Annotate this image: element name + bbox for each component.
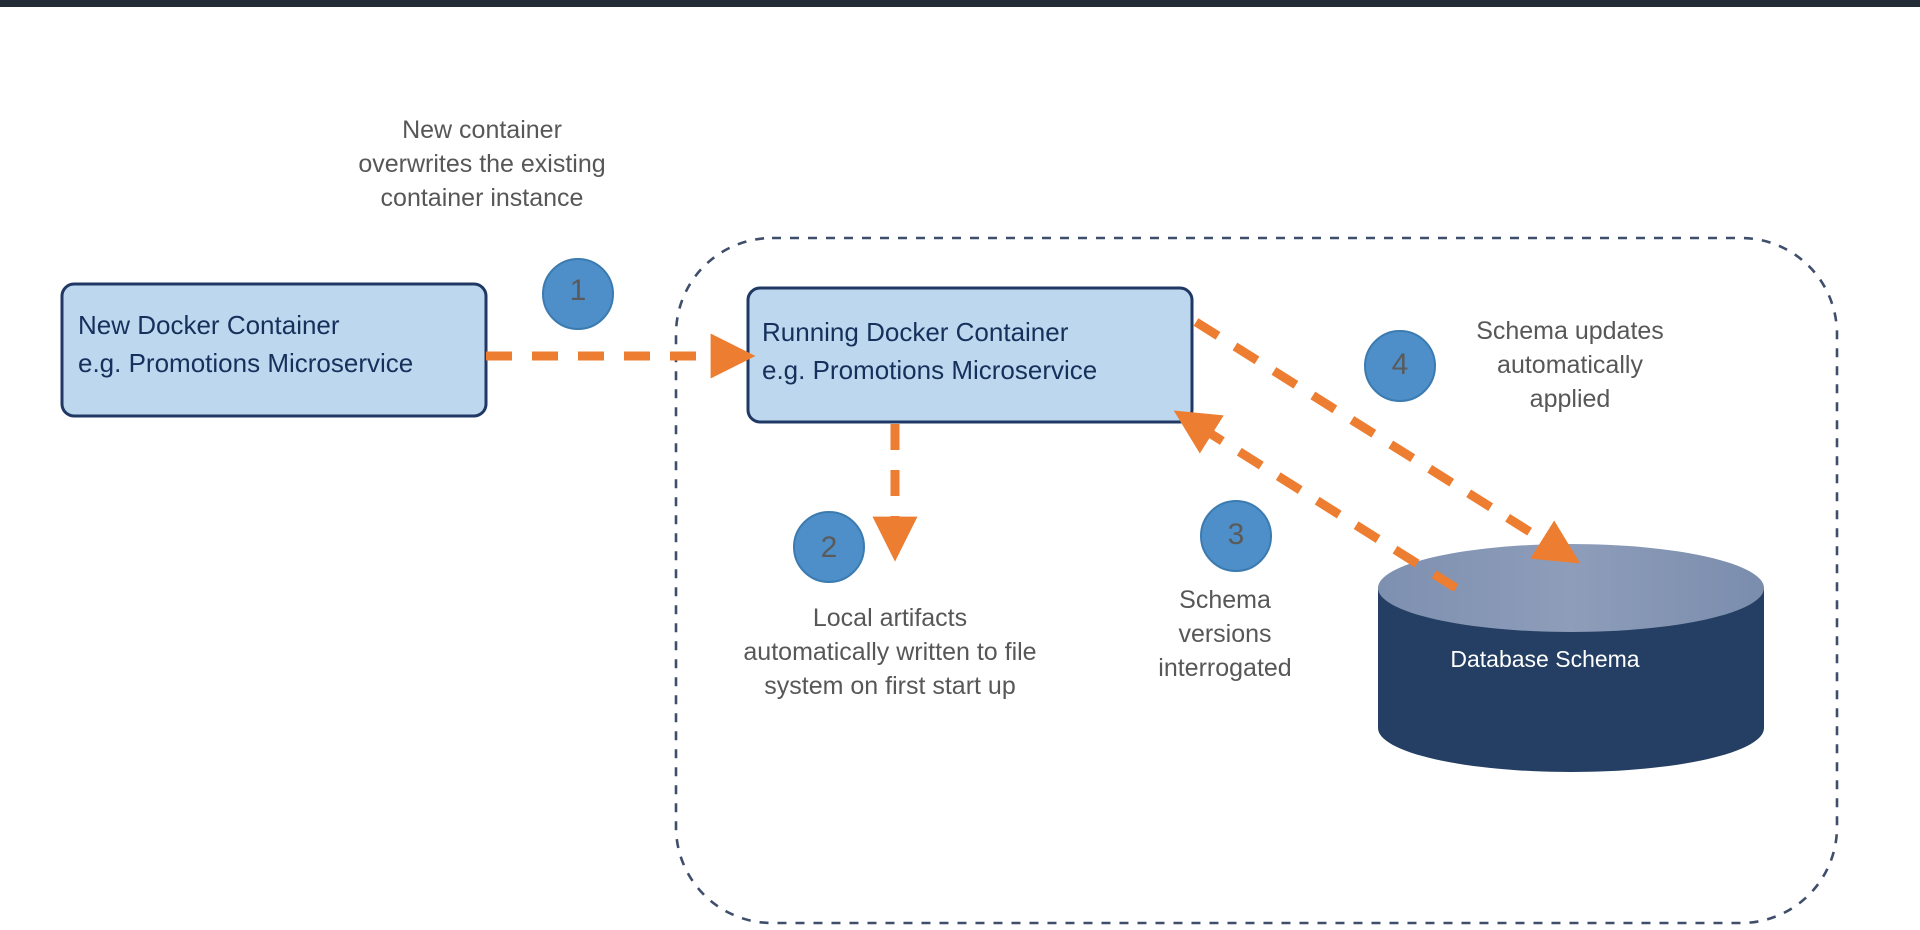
note-new-container-overwrites: New container overwrites the existing co… <box>352 113 612 215</box>
database-schema-label: Database Schema <box>1380 646 1710 673</box>
step-number-3: 3 <box>1201 518 1271 552</box>
step-number-2: 2 <box>794 531 864 565</box>
note-schema-versions-interrogated: Schema versions interrogated <box>1125 583 1325 685</box>
running-docker-container-label: Running Docker Container e.g. Promotions… <box>762 313 1192 389</box>
diagram-canvas: New container overwrites the existing co… <box>0 0 1920 930</box>
step-number-1: 1 <box>543 274 613 308</box>
note-schema-updates-applied: Schema updates automatically applied <box>1445 314 1695 416</box>
step-number-4: 4 <box>1365 348 1435 382</box>
new-docker-container-label: New Docker Container e.g. Promotions Mic… <box>78 306 478 382</box>
note-local-artifacts: Local artifacts automatically written to… <box>700 601 1080 703</box>
diagram-graphics <box>0 0 1920 930</box>
